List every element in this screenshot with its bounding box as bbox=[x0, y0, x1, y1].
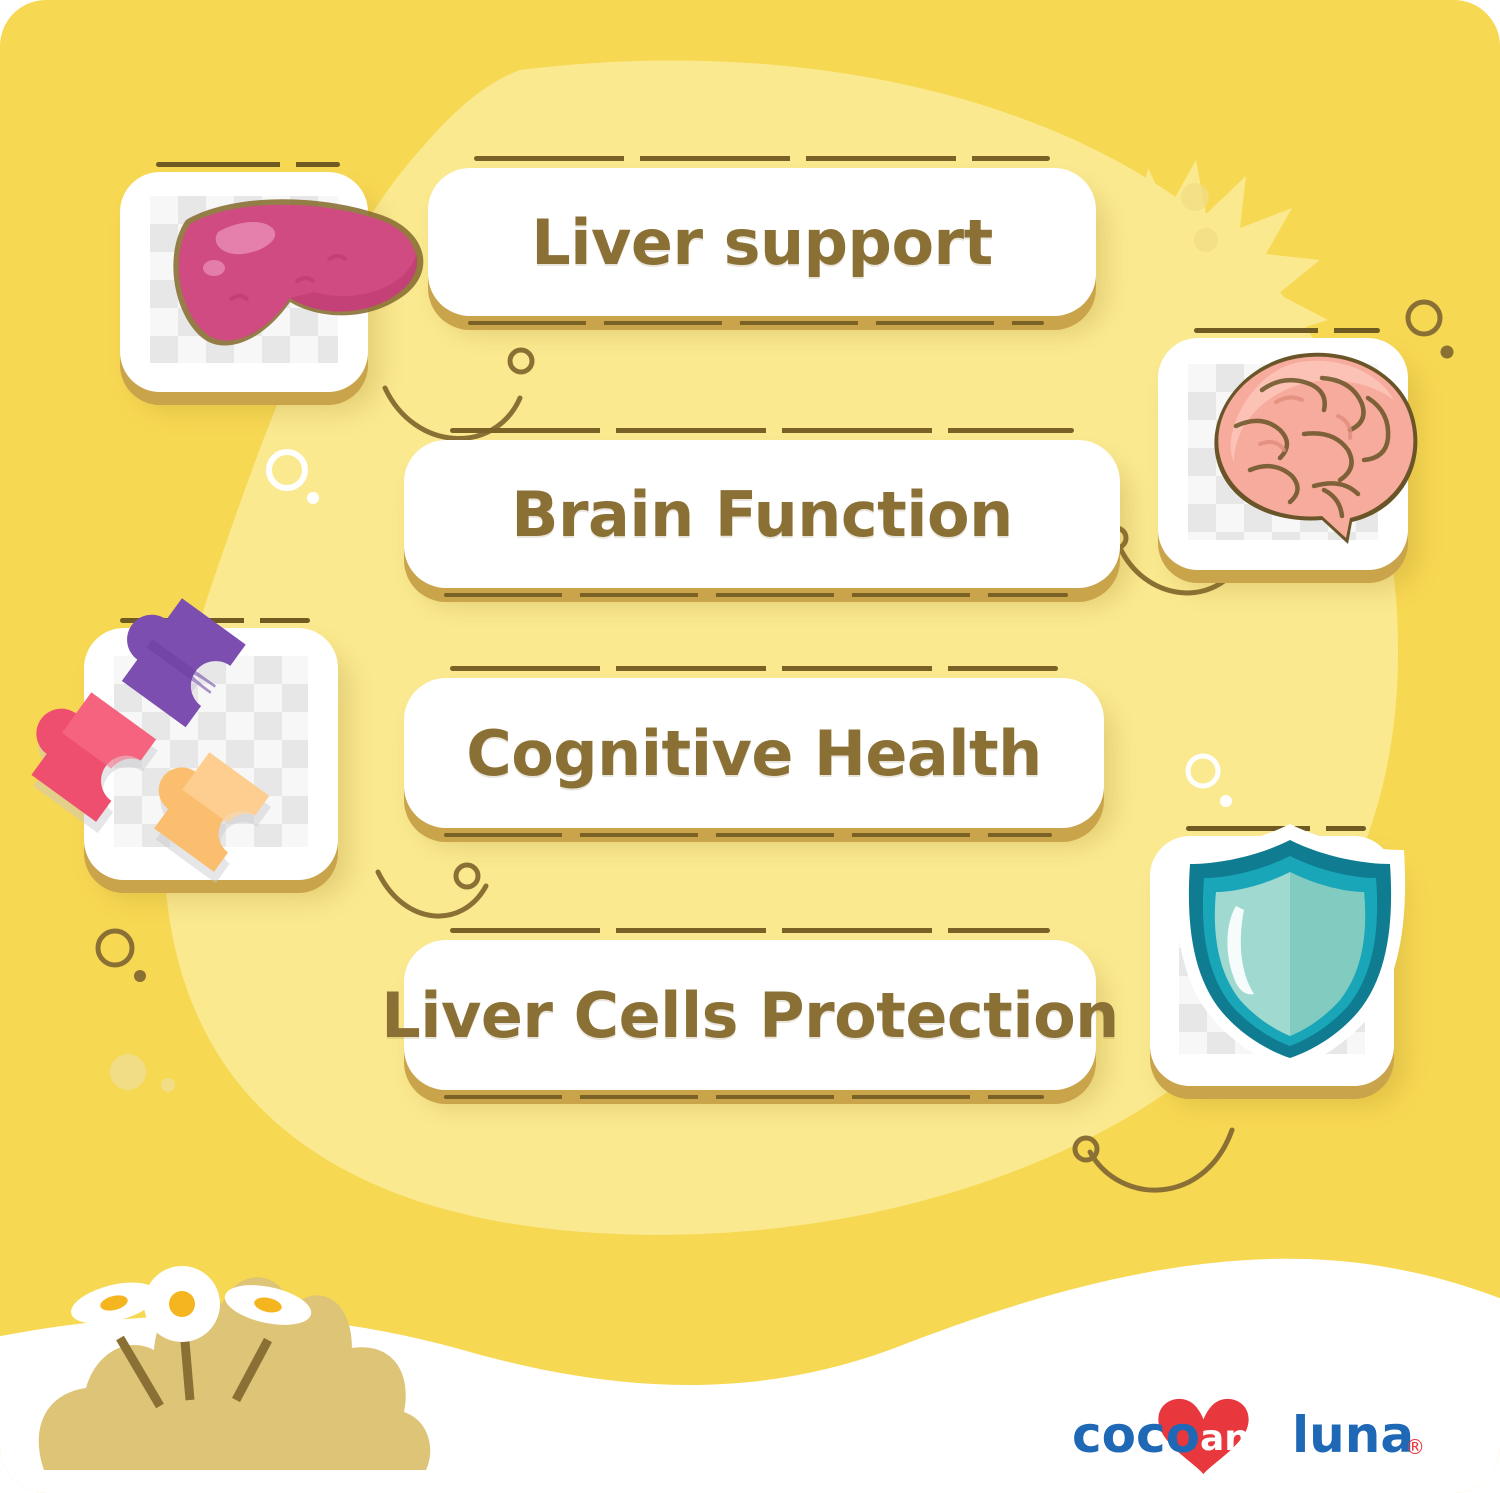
infographic-canvas: Liver support Brain Function Cognitive H… bbox=[0, 0, 1500, 1493]
benefit-cards-list: Liver support Brain Function Cognitive H… bbox=[0, 0, 1500, 1493]
benefit-card-liver-cells-protection[interactable]: Liver Cells Protection bbox=[404, 940, 1096, 1090]
benefit-card-label: Brain Function bbox=[511, 478, 1013, 551]
benefit-card-label: Liver support bbox=[531, 206, 993, 279]
benefit-card-cognitive-health[interactable]: Cognitive Health bbox=[404, 678, 1104, 828]
benefit-card-brain-function[interactable]: Brain Function bbox=[404, 440, 1120, 588]
brand-logo[interactable]: coco and luna ® bbox=[1070, 1392, 1440, 1478]
benefit-card-label: Cognitive Health bbox=[466, 717, 1042, 790]
benefit-card-liver-support[interactable]: Liver support bbox=[428, 168, 1096, 316]
logo-trademark: ® bbox=[1405, 1435, 1425, 1459]
logo-word-and: and bbox=[1200, 1418, 1276, 1459]
benefit-card-label: Liver Cells Protection bbox=[381, 979, 1119, 1052]
logo-word-coco: coco bbox=[1072, 1406, 1200, 1464]
logo-word-luna: luna bbox=[1292, 1406, 1414, 1464]
